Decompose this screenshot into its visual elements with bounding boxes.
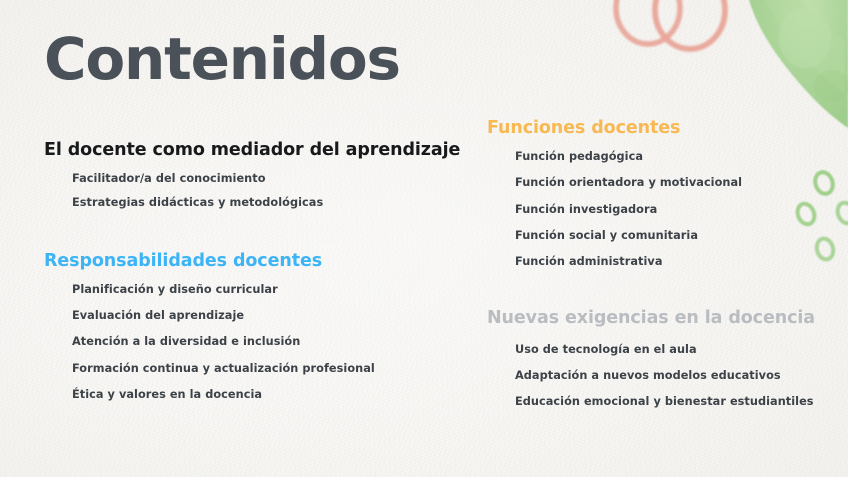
list-item: Ética y valores en la docencia [72, 389, 474, 400]
section-funciones: Funciones docentes Función pedagógica Fu… [487, 118, 827, 268]
list-item: Uso de tecnología en el aula [515, 344, 827, 355]
section-mediador: El docente como mediador del aprendizaje… [44, 140, 474, 209]
section-items-responsabilidades: Planificación y diseño curricular Evalua… [44, 284, 474, 400]
list-item: Formación continua y actualización profe… [72, 363, 474, 374]
list-item: Planificación y diseño curricular [72, 284, 474, 295]
section-exigencias: Nuevas exigencias en la docencia Uso de … [487, 308, 827, 408]
section-heading-funciones: Funciones docentes [487, 118, 827, 138]
list-item: Estrategias didácticas y metodológicas [72, 197, 474, 208]
left-column: El docente como mediador del aprendizaje… [44, 140, 474, 415]
list-item: Función pedagógica [515, 151, 827, 162]
section-heading-responsabilidades: Responsabilidades docentes [44, 251, 474, 271]
list-item: Educación emocional y bienestar estudian… [515, 396, 827, 407]
page-title: Contenidos [44, 30, 400, 88]
section-items-funciones: Función pedagógica Función orientadora y… [487, 151, 827, 267]
section-heading-mediador: El docente como mediador del aprendizaje [44, 140, 474, 160]
section-items-mediador: Facilitador/a del conocimiento Estrategi… [44, 173, 474, 209]
slide-canvas: Contenidos El docente como mediador del … [0, 0, 848, 477]
list-item: Función social y comunitaria [515, 230, 827, 241]
right-column: Funciones docentes Función pedagógica Fu… [487, 118, 827, 423]
list-item: Evaluación del aprendizaje [72, 310, 474, 321]
section-heading-exigencias: Nuevas exigencias en la docencia [487, 308, 827, 328]
list-item: Función investigadora [515, 204, 827, 215]
list-item: Adaptación a nuevos modelos educativos [515, 370, 827, 381]
section-items-exigencias: Uso de tecnología en el aula Adaptación … [487, 344, 827, 408]
list-item: Facilitador/a del conocimiento [72, 173, 474, 184]
section-responsabilidades: Responsabilidades docentes Planificación… [44, 251, 474, 401]
slide-content: Contenidos El docente como mediador del … [0, 0, 848, 477]
list-item: Función administrativa [515, 256, 827, 267]
list-item: Atención a la diversidad e inclusión [72, 336, 474, 347]
list-item: Función orientadora y motivacional [515, 177, 827, 188]
